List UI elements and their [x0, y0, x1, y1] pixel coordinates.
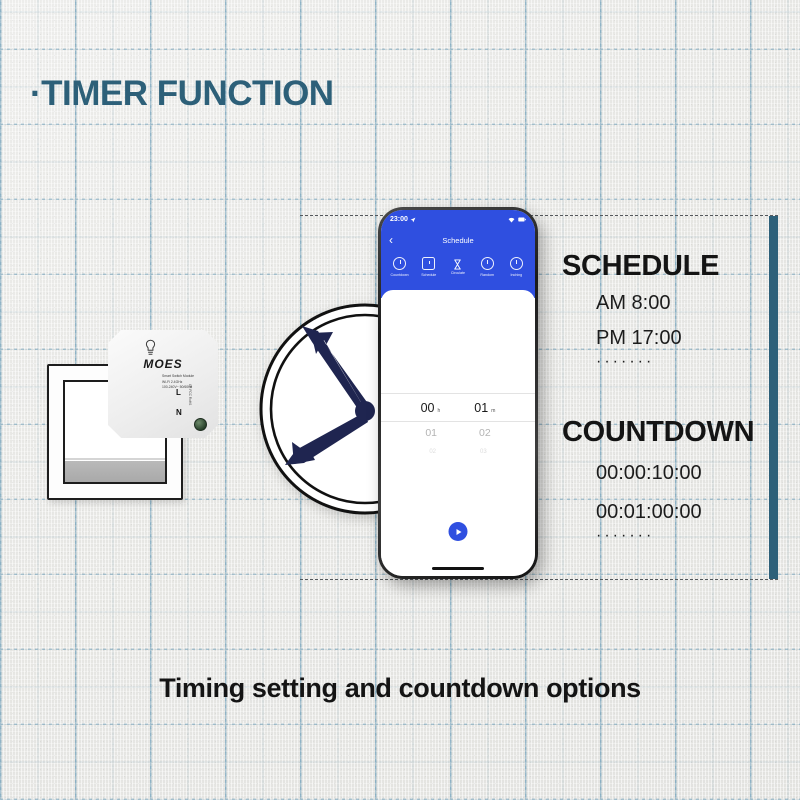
moes-brand-label: MOES	[108, 357, 218, 371]
tab-label: Schedule	[421, 273, 436, 277]
minute-value: 01	[474, 401, 488, 415]
minute-unit: m	[491, 408, 495, 414]
tab-label: Countdown	[391, 273, 409, 277]
terminal-label-n: N	[176, 408, 182, 417]
time-picker-selected-row[interactable]: 00 h 01 m	[381, 393, 535, 422]
terminal-screw	[194, 418, 207, 431]
rocker-button	[65, 461, 165, 482]
phone-screen: 23:00 ‹ Schedule	[381, 210, 535, 576]
countdown-value: 00:00:10:00	[596, 459, 754, 488]
schedule-alarm-icon	[422, 257, 435, 270]
battery-icon	[518, 217, 526, 222]
hour-option: 02	[429, 449, 436, 455]
random-timer-icon	[481, 257, 494, 270]
time-picker[interactable]: 00 h 01 m 01 02 02 03	[381, 393, 535, 460]
page-caption: Timing setting and countdown options	[0, 673, 800, 704]
moes-relay-module: MOES Smart Switch Module Wi-Fi 2.4GHz 10…	[108, 330, 218, 438]
countdown-heading: COUNTDOWN	[562, 416, 754, 449]
schedule-value: AM 8:00	[596, 289, 719, 318]
status-bar: 23:00	[381, 213, 535, 226]
hour-cell[interactable]: 00 h	[421, 401, 441, 415]
terminal-label-l: L	[176, 388, 181, 397]
schedule-more-dots: ·······	[596, 355, 719, 369]
countdown-callout: COUNTDOWN 00:00:10:00 00:01:00:00 ······…	[562, 416, 754, 543]
tab-random[interactable]: Random	[473, 257, 501, 277]
back-button[interactable]: ‹	[389, 234, 393, 246]
countdown-clock-icon	[393, 257, 406, 270]
rocker-gap	[65, 458, 165, 460]
status-bar-time: 23:00	[390, 216, 408, 223]
tab-countdown[interactable]: Countdown	[386, 257, 414, 277]
hour-value: 00	[421, 401, 435, 415]
tab-inching[interactable]: Inching	[502, 257, 530, 277]
countdown-value: 00:01:00:00	[596, 498, 754, 527]
smartphone-mockup: 23:00 ‹ Schedule	[378, 207, 538, 579]
minute-option: 03	[480, 449, 487, 455]
schedule-callout: SCHEDULE AM 8:00 PM 17:00 ·······	[562, 250, 719, 369]
app-title: Schedule	[381, 236, 535, 245]
tab-circulate[interactable]: Circulate	[444, 257, 472, 275]
minute-cell[interactable]: 01 m	[474, 401, 495, 415]
hour-unit: h	[438, 408, 441, 414]
time-picker-next-row[interactable]: 01 02	[381, 422, 535, 444]
bulb-icon	[144, 339, 157, 356]
tab-label: Inching	[511, 273, 523, 277]
play-icon	[457, 529, 462, 535]
inching-icon	[510, 257, 523, 270]
mode-tab-bar: Countdown Schedule Circulate Ra	[381, 257, 535, 291]
minute-option: 02	[479, 427, 491, 439]
hourglass-icon	[452, 257, 463, 268]
tab-label: Random	[480, 273, 494, 277]
hour-option: 01	[425, 427, 437, 439]
tab-label: Circulate	[451, 271, 465, 275]
location-arrow-icon	[410, 217, 416, 223]
schedule-value: PM 17:00	[596, 324, 719, 353]
app-navbar: ‹ Schedule	[381, 230, 535, 250]
start-timer-button[interactable]	[449, 522, 468, 541]
wifi-icon	[508, 217, 515, 223]
callout-bracket-bar	[769, 216, 778, 579]
tab-schedule[interactable]: Schedule	[415, 257, 443, 277]
clock-center-pin	[355, 401, 375, 421]
time-picker-far-row[interactable]: 02 03	[381, 444, 535, 460]
poster-canvas: ·TIMER FUNCTION MOES Smart Switch Module…	[0, 0, 800, 800]
module-certification-text: CE FCC RoHS	[188, 384, 192, 405]
home-indicator	[432, 567, 484, 570]
schedule-heading: SCHEDULE	[562, 250, 719, 283]
content-sheet: 00 h 01 m 01 02 02 03	[381, 290, 535, 576]
page-title: ·TIMER FUNCTION	[30, 74, 334, 114]
countdown-more-dots: ·······	[596, 529, 754, 543]
